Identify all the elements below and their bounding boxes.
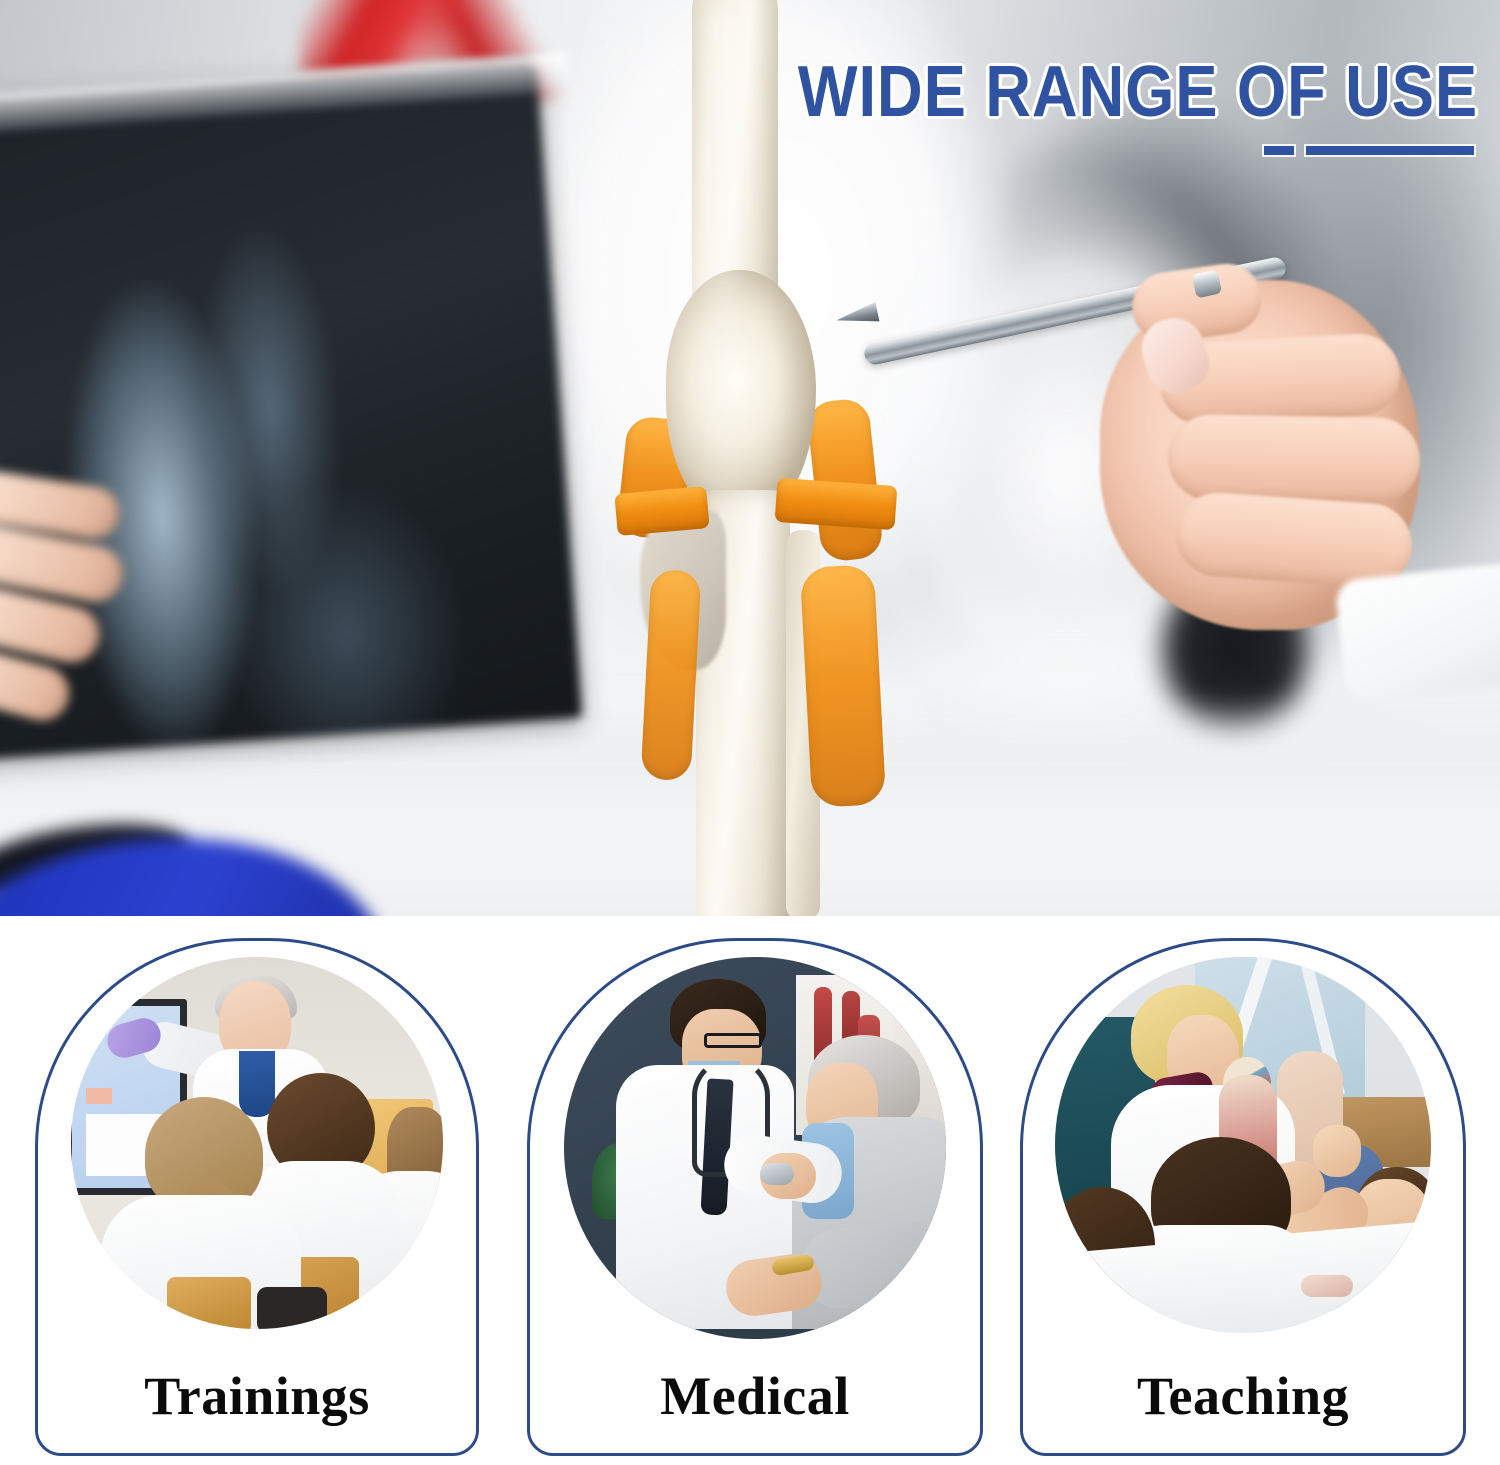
- ligament-band: [614, 486, 709, 536]
- eyeglasses-icon: [704, 1033, 762, 1048]
- left-hand: [0, 470, 180, 730]
- card-photo-teaching: [1055, 957, 1431, 1333]
- use-case-card-trainings[interactable]: Trainings: [35, 938, 479, 1456]
- hero-headline-block: WIDE RANGE OF USE: [705, 56, 1478, 155]
- page-title: WIDE RANGE OF USE: [798, 56, 1478, 128]
- instructor-shirt: [239, 1051, 275, 1117]
- finger: [1167, 414, 1420, 504]
- sleeve-cuff: [1334, 559, 1500, 700]
- right-hand: [1040, 240, 1470, 660]
- hero-banner: WIDE RANGE OF USE: [0, 0, 1500, 916]
- backpack: [257, 1287, 327, 1329]
- use-case-card-row: Trainings: [0, 916, 1500, 1465]
- headline-underline: [705, 146, 1478, 155]
- teaching-scene: [1055, 957, 1431, 1333]
- use-case-card-medical[interactable]: Medical: [527, 938, 983, 1456]
- desk-object: [1301, 1275, 1353, 1297]
- stethoscope-chestpiece: [760, 1163, 794, 1185]
- chair: [167, 1277, 251, 1329]
- ligament-band: [800, 564, 886, 808]
- ligament-band: [641, 569, 702, 781]
- use-case-card-teaching[interactable]: Teaching: [1020, 938, 1466, 1456]
- card-label-trainings: Trainings: [38, 1365, 476, 1427]
- card-label-teaching: Teaching: [1023, 1365, 1463, 1427]
- student-hand: [1313, 1125, 1361, 1177]
- screen-marker: [86, 1088, 112, 1104]
- clinic-scene: [564, 957, 946, 1339]
- underline-dash-icon: [1264, 146, 1294, 155]
- classroom-scene: [71, 957, 443, 1329]
- card-photo-trainings: [71, 957, 443, 1329]
- ligament-band: [775, 478, 898, 530]
- finger: [1173, 490, 1414, 590]
- card-label-medical: Medical: [530, 1365, 980, 1427]
- product-marketing-page: WIDE RANGE OF USE: [0, 0, 1500, 1465]
- underline-bar-icon: [1306, 146, 1474, 155]
- card-photo-medical: [564, 957, 946, 1339]
